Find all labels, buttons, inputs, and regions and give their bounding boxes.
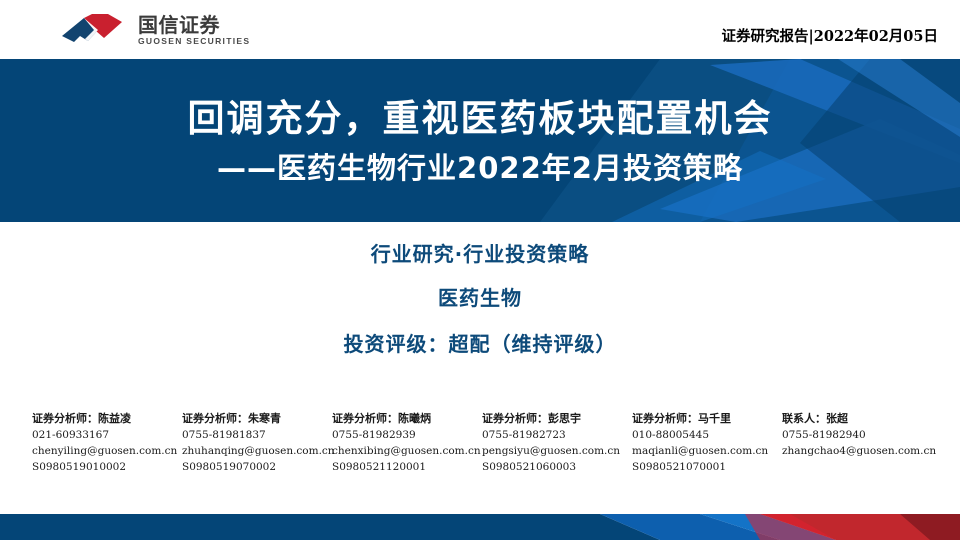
analyst-name: 证券分析师：陈曦炳 xyxy=(332,410,482,427)
analyst-card: 证券分析师：马千里 010-88005445 maqianli@guosen.c… xyxy=(632,410,782,475)
investment-rating: 投资评级：超配（维持评级） xyxy=(0,330,960,358)
report-subtitle: ——医药生物行业2022年2月投资策略 xyxy=(217,148,743,188)
banner-text-group: 回调充分，重视医药板块配置机会 ——医药生物行业2022年2月投资策略 xyxy=(0,59,960,222)
analyst-email[interactable]: chenyiling@guosen.com.cn xyxy=(32,443,182,459)
analyst-email[interactable]: zhuhanqing@guosen.com.cn xyxy=(182,443,332,459)
report-cover-page: 国信证券 GUOSEN SECURITIES 证券研究报告|2022年02月05… xyxy=(0,0,960,540)
analyst-email[interactable]: pengsiyu@guosen.com.cn xyxy=(482,443,632,459)
report-type-and-date: 证券研究报告|2022年02月05日 xyxy=(722,25,939,46)
analyst-contact-list: 证券分析师：陈益凌 021-60933167 chenyiling@guosen… xyxy=(32,410,944,475)
analyst-phone: 0755-81982940 xyxy=(782,427,932,443)
guosen-swoosh-logo-icon xyxy=(58,12,134,48)
analyst-phone: 0755-81982723 xyxy=(482,427,632,443)
title-banner: 回调充分，重视医药板块配置机会 ——医药生物行业2022年2月投资策略 xyxy=(0,59,960,222)
industry-name: 医药生物 xyxy=(0,284,960,312)
analyst-name: 证券分析师：马千里 xyxy=(632,410,782,427)
analyst-card: 证券分析师：陈曦炳 0755-81982939 chenxibing@guose… xyxy=(332,410,482,475)
analyst-card: 证券分析师：彭思宇 0755-81982723 pengsiyu@guosen.… xyxy=(482,410,632,475)
analyst-phone: 0755-81981837 xyxy=(182,427,332,443)
page-header: 国信证券 GUOSEN SECURITIES 证券研究报告|2022年02月05… xyxy=(0,0,960,59)
analyst-name: 联系人：张超 xyxy=(782,410,932,427)
analyst-phone: 0755-81982939 xyxy=(332,427,482,443)
analyst-name: 证券分析师：朱寒青 xyxy=(182,410,332,427)
analyst-license: S0980519070002 xyxy=(182,459,332,475)
industry-research-label: 行业研究·行业投资策略 xyxy=(0,240,960,268)
analyst-card: 证券分析师：陈益凌 021-60933167 chenyiling@guosen… xyxy=(32,410,182,475)
logo-wordmark: 国信证券 GUOSEN SECURITIES xyxy=(138,12,250,48)
analyst-email[interactable]: zhangchao4@guosen.com.cn xyxy=(782,443,932,459)
logo-chinese-name: 国信证券 xyxy=(138,14,250,36)
footer-decorative-bar xyxy=(0,514,960,540)
analyst-name: 证券分析师：陈益凌 xyxy=(32,410,182,427)
analyst-card: 联系人：张超 0755-81982940 zhangchao4@guosen.c… xyxy=(782,410,932,459)
analyst-email[interactable]: chenxibing@guosen.com.cn xyxy=(332,443,482,459)
analyst-license: S0980521060003 xyxy=(482,459,632,475)
analyst-license: S0980521120001 xyxy=(332,459,482,475)
analyst-email[interactable]: maqianli@guosen.com.cn xyxy=(632,443,782,459)
analyst-license: S0980519010002 xyxy=(32,459,182,475)
analyst-phone: 021-60933167 xyxy=(32,427,182,443)
analyst-phone: 010-88005445 xyxy=(632,427,782,443)
report-classification-block: 行业研究·行业投资策略 医药生物 投资评级：超配（维持评级） xyxy=(0,240,960,358)
company-logo: 国信证券 GUOSEN SECURITIES xyxy=(58,12,250,48)
logo-english-name: GUOSEN SECURITIES xyxy=(138,36,250,47)
analyst-name: 证券分析师：彭思宇 xyxy=(482,410,632,427)
report-title: 回调充分，重视医药板块配置机会 xyxy=(188,96,773,142)
analyst-license: S0980521070001 xyxy=(632,459,782,475)
analyst-card: 证券分析师：朱寒青 0755-81981837 zhuhanqing@guose… xyxy=(182,410,332,475)
